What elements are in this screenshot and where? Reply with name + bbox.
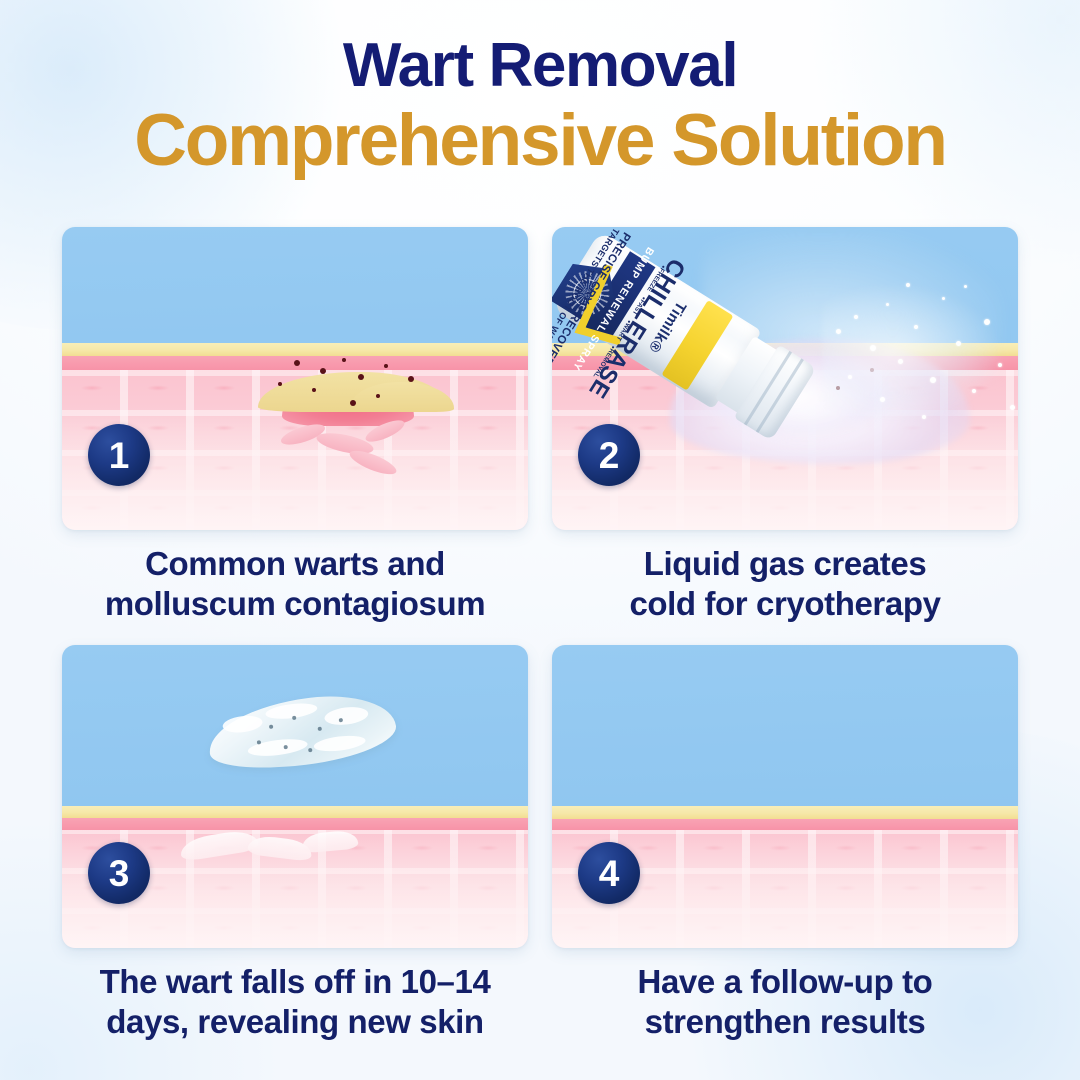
mist-droplet — [984, 319, 990, 325]
step-card-4: 4 Have a follow-up to strengthen results — [552, 645, 1018, 1041]
mist-droplet — [1010, 405, 1015, 410]
epidermis-layer — [552, 806, 1018, 819]
step-caption-1: Common warts and molluscum contagiosum — [62, 544, 528, 623]
wart-lesion — [258, 354, 448, 412]
step-caption-line: Have a follow-up to — [552, 962, 1018, 1002]
step-2-illustration: TARGETS THE ROOT OF WARTS PRECISE CRYO R… — [552, 227, 1018, 530]
step-caption-line: cold for cryotherapy — [552, 584, 1018, 624]
mist-droplet — [870, 345, 876, 351]
step-card-2: TARGETS THE ROOT OF WARTS PRECISE CRYO R… — [552, 227, 1018, 623]
step-number-badge-2: 2 — [578, 424, 640, 486]
mist-droplet — [922, 415, 926, 419]
step-number-badge-1: 1 — [88, 424, 150, 486]
step-caption-2: Liquid gas creates cold for cryotherapy — [552, 544, 1018, 623]
mist-droplet — [886, 303, 889, 306]
mist-droplet — [906, 283, 910, 287]
thrombosed-capillary-dot — [294, 360, 300, 366]
mist-plume — [822, 267, 1018, 447]
steps-grid: 1 Common warts and molluscum contagiosum — [62, 227, 1018, 1041]
mist-droplet — [930, 377, 936, 383]
thrombosed-capillary-dot — [312, 388, 316, 392]
papillary-dermis-band — [62, 818, 528, 830]
thrombosed-capillary-dot — [376, 394, 380, 398]
step-1-illustration: 1 — [62, 227, 528, 530]
mist-droplet — [854, 315, 858, 319]
step-number-badge-3: 3 — [88, 842, 150, 904]
step-caption-3: The wart falls off in 10–14 days, reveal… — [62, 962, 528, 1041]
mist-droplet — [972, 389, 976, 393]
mist-droplet — [942, 297, 945, 300]
detached-scab — [205, 688, 400, 776]
mist-droplet — [880, 397, 885, 402]
step-card-1: 1 Common warts and molluscum contagiosum — [62, 227, 528, 623]
epidermis-layer — [62, 806, 528, 818]
step-caption-line: molluscum contagiosum — [62, 584, 528, 624]
page-title-primary: Wart Removal — [0, 34, 1080, 98]
step-caption-line: The wart falls off in 10–14 — [62, 962, 528, 1002]
mist-droplet — [998, 363, 1002, 367]
step-number-badge-4: 4 — [578, 842, 640, 904]
page-header: Wart Removal Comprehensive Solution — [0, 34, 1080, 180]
step-3-illustration: 3 — [62, 645, 528, 948]
thrombosed-capillary-dot — [384, 364, 388, 368]
step-4-illustration: 4 — [552, 645, 1018, 948]
mist-droplet — [956, 341, 961, 346]
thrombosed-capillary-dot — [408, 376, 414, 382]
step-caption-line: Liquid gas creates — [552, 544, 1018, 584]
mist-droplet — [898, 359, 903, 364]
step-card-3: 3 The wart falls off in 10–14 days, reve… — [62, 645, 528, 1041]
mist-droplet — [848, 375, 852, 379]
page-title-secondary: Comprehensive Solution — [0, 102, 1080, 179]
mist-droplet — [964, 285, 967, 288]
spray-mist — [822, 267, 1018, 447]
thrombosed-capillary-dot — [342, 358, 346, 362]
step-caption-4: Have a follow-up to strengthen results — [552, 962, 1018, 1041]
thrombosed-capillary-dot — [278, 382, 282, 386]
thrombosed-capillary-dot — [320, 368, 326, 374]
mist-droplet — [836, 329, 841, 334]
step-caption-line: Common warts and — [62, 544, 528, 584]
step-caption-line: days, revealing new skin — [62, 1002, 528, 1042]
mist-droplet — [914, 325, 918, 329]
step-caption-line: strengthen results — [552, 1002, 1018, 1042]
thrombosed-capillary-dot — [350, 400, 356, 406]
thrombosed-capillary-dot — [358, 374, 364, 380]
papillary-dermis-band — [552, 819, 1018, 830]
